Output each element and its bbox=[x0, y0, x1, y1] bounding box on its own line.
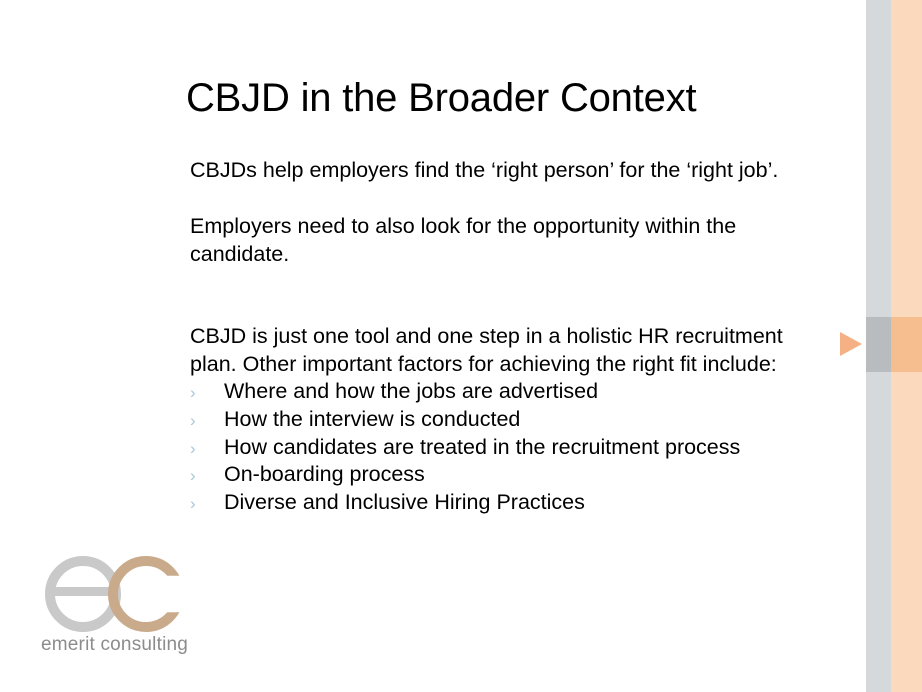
chevron-right-icon: › bbox=[190, 435, 196, 463]
factors-bullet-list: › Where and how the jobs are advertised … bbox=[190, 378, 790, 517]
paragraph-2: Employers need to also look for the oppo… bbox=[190, 212, 790, 268]
list-item: › How candidates are treated in the recr… bbox=[190, 434, 790, 462]
paragraph-1: CBJDs help employers find the ‘right per… bbox=[190, 156, 790, 184]
list-item-label: On-boarding process bbox=[224, 462, 425, 486]
list-item-label: How the interview is conducted bbox=[224, 407, 520, 431]
logo-mark bbox=[45, 556, 190, 626]
slide-body: CBJDs help employers find the ‘right per… bbox=[190, 156, 790, 517]
list-item-label: Where and how the jobs are advertised bbox=[224, 379, 598, 403]
company-logo: emerit consulting bbox=[45, 556, 190, 626]
list-item: › On-boarding process bbox=[190, 461, 790, 489]
list-item-label: How candidates are treated in the recrui… bbox=[224, 435, 740, 459]
next-slide-arrow-icon[interactable] bbox=[840, 332, 862, 356]
chevron-right-icon: › bbox=[190, 379, 196, 407]
list-item: › How the interview is conducted bbox=[190, 406, 790, 434]
logo-letter-c-icon bbox=[108, 556, 184, 632]
list-item: › Where and how the jobs are advertised bbox=[190, 378, 790, 406]
chevron-right-icon: › bbox=[190, 490, 196, 518]
edge-band-peach-active-segment[interactable] bbox=[891, 317, 922, 372]
list-item-label: Diverse and Inclusive Hiring Practices bbox=[224, 490, 585, 514]
paragraph-3: CBJD is just one tool and one step in a … bbox=[190, 322, 790, 378]
logo-letter-e-crossbar-icon bbox=[48, 587, 118, 596]
page-title: CBJD in the Broader Context bbox=[186, 74, 696, 122]
edge-band-gray-active-segment[interactable] bbox=[866, 317, 891, 372]
slide-canvas: CBJD in the Broader Context CBJDs help e… bbox=[0, 0, 922, 692]
chevron-right-icon: › bbox=[190, 462, 196, 490]
body-spacer bbox=[190, 296, 790, 322]
list-item: › Diverse and Inclusive Hiring Practices bbox=[190, 489, 790, 517]
chevron-right-icon: › bbox=[190, 407, 196, 435]
logo-wordmark: emerit consulting bbox=[41, 634, 188, 656]
